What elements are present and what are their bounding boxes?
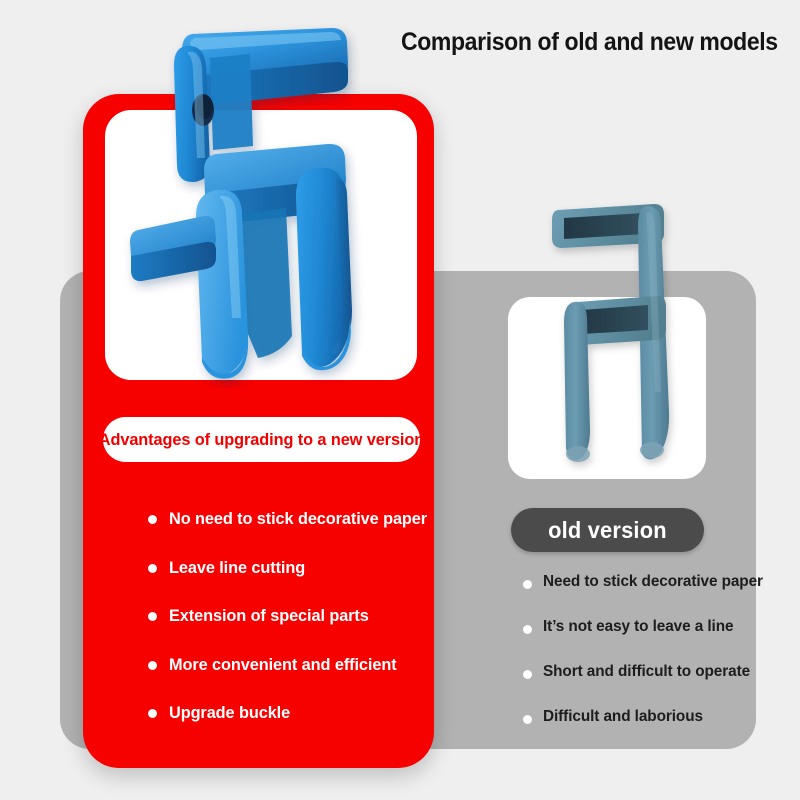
list-item-label: Need to stick decorative paper <box>543 573 763 591</box>
list-item: Need to stick decorative paper <box>521 573 771 618</box>
bullet-dot-icon <box>523 625 532 634</box>
new-version-headline: Advantages of upgrading to a new version <box>99 430 424 450</box>
bullet-dot-icon <box>148 612 157 621</box>
old-version-badge-label: old version <box>548 517 667 544</box>
list-item-label: No need to stick decorative paper <box>169 510 427 529</box>
list-item: Extension of special parts <box>148 607 438 656</box>
list-item: Short and difficult to operate <box>521 663 771 708</box>
bullet-dot-icon <box>148 661 157 670</box>
list-item-label: Difficult and laborious <box>543 708 703 726</box>
new-version-photo-card <box>105 110 417 380</box>
bullet-dot-icon <box>148 515 157 524</box>
old-version-photo-card <box>508 297 706 479</box>
old-version-badge: old version <box>511 508 704 552</box>
list-item-label: Upgrade buckle <box>169 704 427 723</box>
new-version-headline-pill: Advantages of upgrading to a new version <box>103 417 420 462</box>
list-item-label: Short and difficult to operate <box>543 663 750 681</box>
list-item: No need to stick decorative paper <box>148 510 438 559</box>
list-item-label: Extension of special parts <box>169 607 427 626</box>
bullet-dot-icon <box>148 709 157 718</box>
list-item: Leave line cutting <box>148 559 438 608</box>
list-item: Difficult and laborious <box>521 708 771 753</box>
list-item: Upgrade buckle <box>148 704 438 753</box>
new-version-feature-list: No need to stick decorative paper Leave … <box>148 510 438 753</box>
old-version-feature-list: Need to stick decorative paper It’s not … <box>521 573 771 753</box>
bullet-dot-icon <box>523 670 532 679</box>
list-item: More convenient and efficient <box>148 656 438 705</box>
list-item-label: It’s not easy to leave a line <box>543 618 733 636</box>
bullet-dot-icon <box>523 580 532 589</box>
infographic-stage: Comparison of old and new models <box>0 0 800 800</box>
list-item-label: Leave line cutting <box>169 559 427 578</box>
bullet-dot-icon <box>148 564 157 573</box>
page-title: Comparison of old and new models <box>401 28 769 57</box>
list-item: It’s not easy to leave a line <box>521 618 771 663</box>
list-item-label: More convenient and efficient <box>169 656 427 675</box>
bullet-dot-icon <box>523 715 532 724</box>
